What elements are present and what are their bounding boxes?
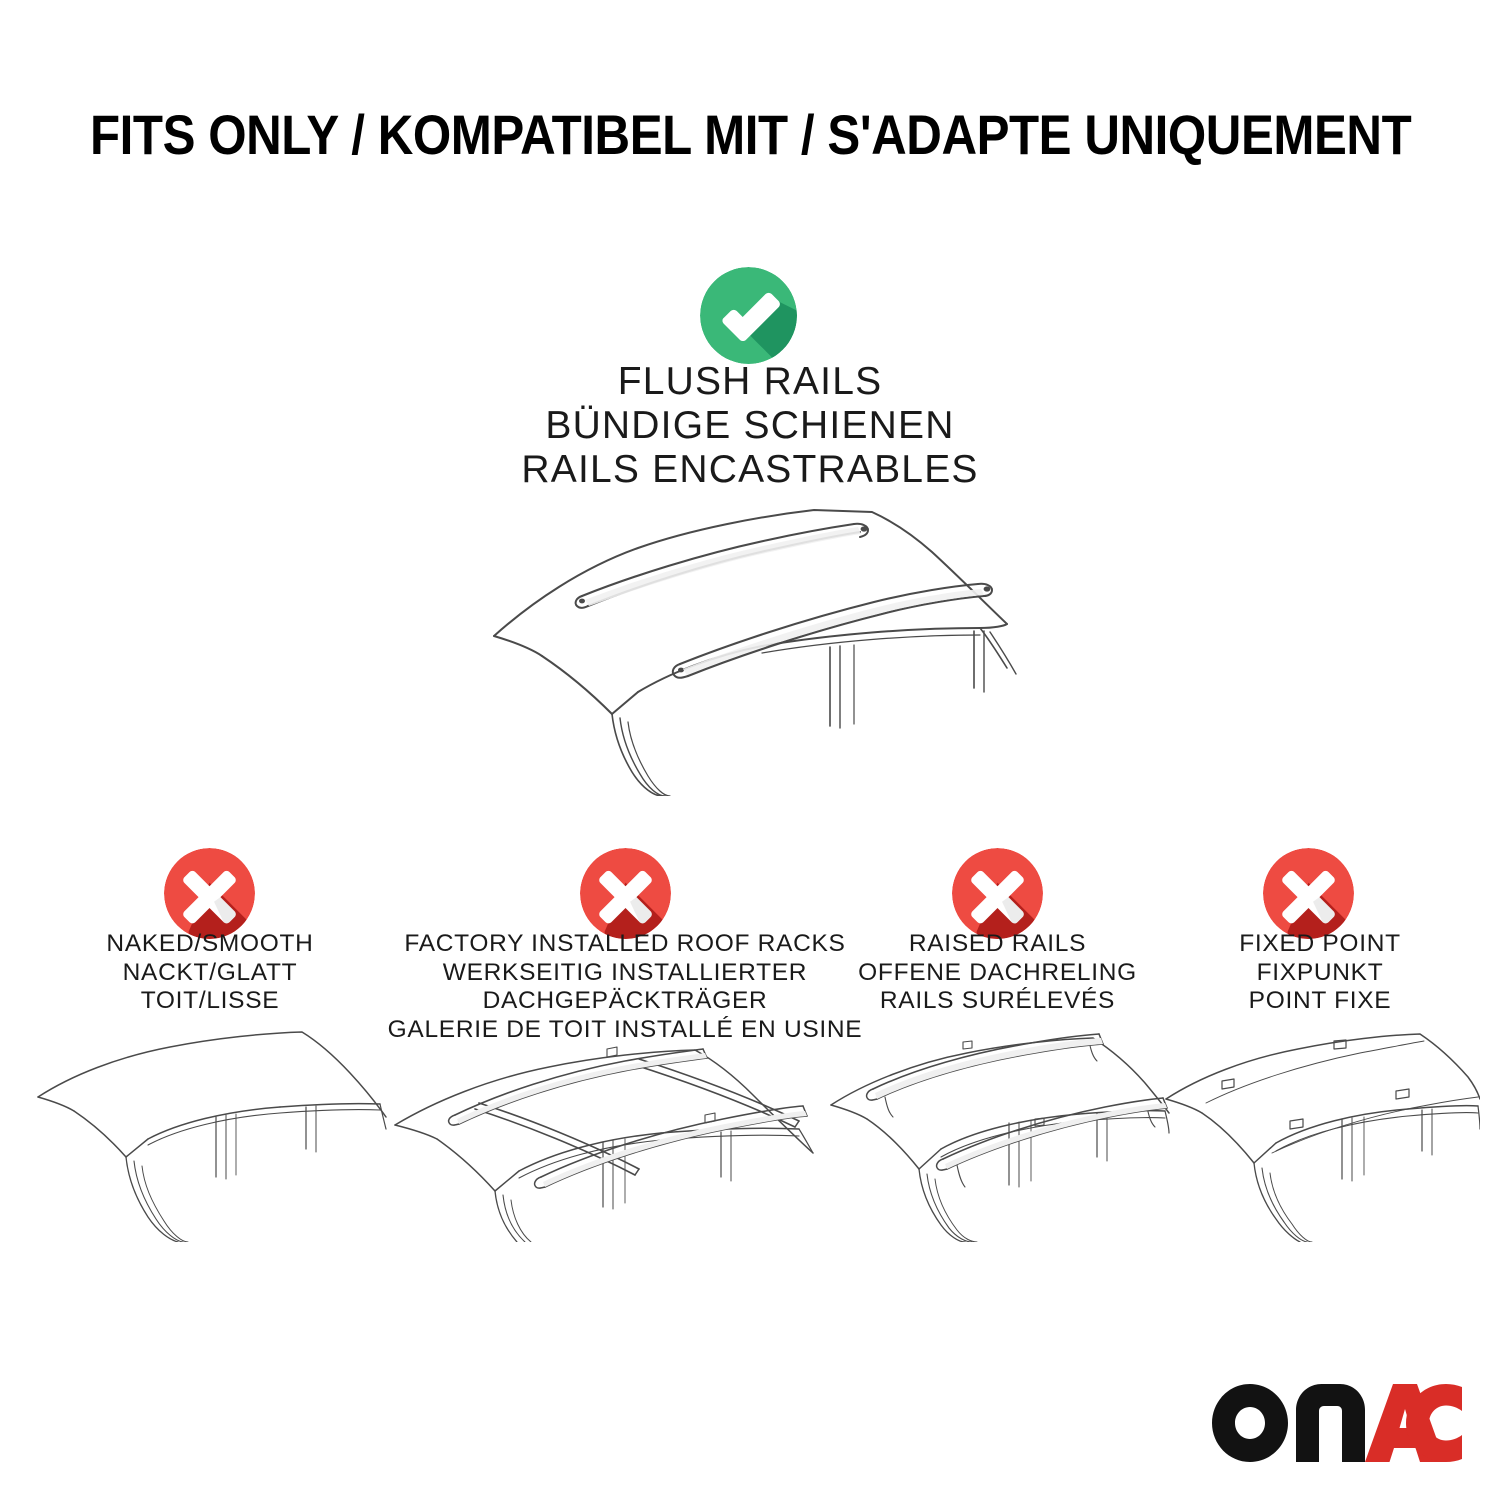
option-raised-rails: RAISED RAILS OFFENE DACHRELING RAILS SUR…: [825, 930, 1170, 1242]
option-factory-roof-racks: FACTORY INSTALLED ROOF RACKS WERKSEITIG …: [385, 930, 865, 1242]
page-title: FITS ONLY / KOMPATIBEL MIT / S'ADAPTE UN…: [90, 106, 1410, 165]
car-roof-raised-rails-illustration: [825, 1027, 1170, 1242]
cross-circle-icon: [1263, 848, 1354, 939]
omac-logo: [1212, 1384, 1462, 1462]
flush-rails-line-de: BÜNDIGE SCHIENEN: [0, 404, 1500, 448]
check-circle-icon: [700, 267, 797, 364]
incompatible-options-row: NAKED/SMOOTH NACKT/GLATT TOIT/LISSE: [0, 930, 1500, 1290]
omac-logo-mark: [1212, 1384, 1462, 1462]
option-line-de: NACKT/GLATT: [30, 959, 390, 988]
option-line-de: FIXPUNKT: [1160, 959, 1480, 988]
option-line-de: OFFENE DACHRELING: [825, 959, 1170, 988]
option-line-fr: TOIT/LISSE: [30, 987, 390, 1016]
car-roof-factory-roof-racks-illustration: [385, 1027, 865, 1242]
option-label: NAKED/SMOOTH NACKT/GLATT TOIT/LISSE: [30, 930, 390, 1016]
option-line-en: FACTORY INSTALLED ROOF RACKS: [385, 930, 865, 959]
car-roof-naked-smooth-illustration: [30, 1027, 390, 1242]
option-line-en: FIXED POINT: [1160, 930, 1480, 959]
option-line-de-2: DACHGEPÄCKTRÄGER: [385, 987, 865, 1016]
option-naked-smooth: NAKED/SMOOTH NACKT/GLATT TOIT/LISSE: [30, 930, 390, 1242]
car-roof-with-flush-rails-illustration: [462, 496, 1052, 796]
car-roof-fixed-point-illustration: [1160, 1027, 1480, 1242]
option-label: FIXED POINT FIXPUNKT POINT FIXE: [1160, 930, 1480, 1016]
cross-circle-icon: [580, 848, 671, 939]
flush-rails-line-en: FLUSH RAILS: [0, 360, 1500, 404]
cross-circle-icon: [164, 848, 255, 939]
flush-rails-line-fr: RAILS ENCASTRABLES: [0, 448, 1500, 492]
cross-circle-icon: [952, 848, 1043, 939]
option-label: FACTORY INSTALLED ROOF RACKS WERKSEITIG …: [385, 930, 865, 1044]
option-fixed-point: FIXED POINT FIXPUNKT POINT FIXE: [1160, 930, 1480, 1242]
option-line-de-1: WERKSEITIG INSTALLIERTER: [385, 959, 865, 988]
option-line-fr: POINT FIXE: [1160, 987, 1480, 1016]
flush-rails-caption: FLUSH RAILS BÜNDIGE SCHIENEN RAILS ENCAS…: [0, 360, 1500, 492]
option-line-fr: RAILS SURÉLEVÉS: [825, 987, 1170, 1016]
option-label: RAISED RAILS OFFENE DACHRELING RAILS SUR…: [825, 930, 1170, 1016]
option-line-fr: GALERIE DE TOIT INSTALLÉ EN USINE: [385, 1016, 865, 1045]
option-line-en: RAISED RAILS: [825, 930, 1170, 959]
option-line-en: NAKED/SMOOTH: [30, 930, 390, 959]
